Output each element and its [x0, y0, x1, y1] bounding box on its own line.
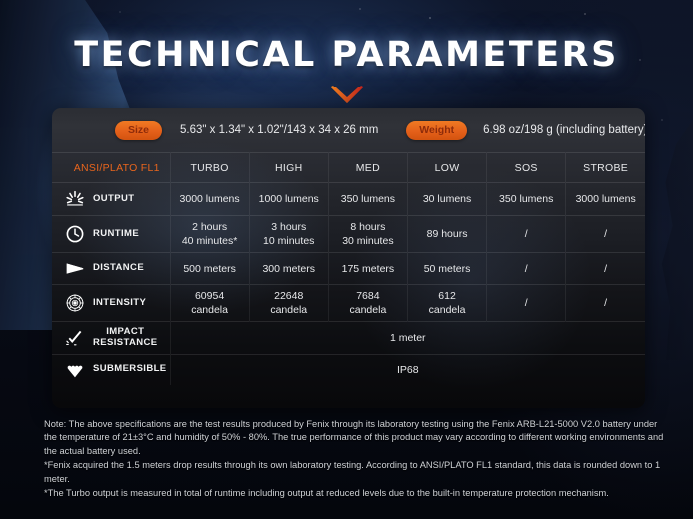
row-label-text: SUBMERSIBLE [93, 364, 167, 375]
cell-runtime-turbo: 2 hours40 minutes* [170, 216, 249, 253]
cell-runtime-high: 3 hours10 minutes [249, 216, 328, 253]
cell-runtime-sos: / [487, 216, 566, 253]
cell-distance-high: 300 meters [249, 253, 328, 285]
cell-output-turbo: 3000 lumens [170, 183, 249, 216]
row-label-output: OUTPUT [52, 183, 170, 216]
footnotes: Note: The above specifications are the t… [44, 418, 664, 502]
column-header-high: HIGH [249, 153, 328, 183]
size-value: 5.63" x 1.34" x 1.02"/143 x 34 x 26 mm [180, 124, 378, 136]
table-row: RUNTIME 2 hours40 minutes* 3 hours10 min… [52, 216, 645, 253]
size-badge: Size [115, 121, 162, 140]
row-label-runtime: RUNTIME [52, 216, 170, 253]
cell-distance-strobe: / [566, 253, 645, 285]
cell-runtime-low: 89 hours [407, 216, 486, 253]
row-label-text: IMPACTRESISTANCE [93, 327, 158, 349]
header: TECHNICAL PARAMETERS [0, 35, 693, 110]
cell-output-strobe: 3000 lumens [566, 183, 645, 216]
column-header-turbo: TURBO [170, 153, 249, 183]
cell-runtime-strobe: / [566, 216, 645, 253]
cell-output-med: 350 lumens [328, 183, 407, 216]
cell-submersible-value: IP68 [170, 355, 645, 385]
page-root: TECHNICAL PARAMETERS Size 5.63" x 1.34" … [0, 0, 693, 519]
row-label-distance: DISTANCE [52, 253, 170, 285]
cell-intensity-low: 612candela [407, 285, 486, 322]
table-row: SUBMERSIBLE IP68 [52, 355, 645, 385]
cell-runtime-med: 8 hours30 minutes [328, 216, 407, 253]
page-title: TECHNICAL PARAMETERS [0, 35, 693, 75]
row-label-text: OUTPUT [93, 194, 134, 205]
weight-value: 6.98 oz/198 g (including battery) [483, 124, 645, 136]
sunburst-icon [64, 188, 86, 210]
clock-icon [64, 223, 86, 245]
row-label-intensity: INTENSITY [52, 285, 170, 322]
cell-intensity-strobe: / [566, 285, 645, 322]
impact-drop-icon [64, 327, 86, 349]
cell-distance-sos: / [487, 253, 566, 285]
table-row: OUTPUT 3000 lumens 1000 lumens 350 lumen… [52, 183, 645, 216]
column-header-low: LOW [407, 153, 486, 183]
weight-badge: Weight [406, 121, 467, 140]
table-row: DISTANCE 500 meters 300 meters 175 meter… [52, 253, 645, 285]
cell-distance-turbo: 500 meters [170, 253, 249, 285]
cell-distance-med: 175 meters [328, 253, 407, 285]
size-weight-row: Size 5.63" x 1.34" x 1.02"/143 x 34 x 26… [52, 108, 645, 152]
beam-distance-icon [64, 258, 86, 280]
cell-intensity-high: 22648candela [249, 285, 328, 322]
table-row: INTENSITY 60954candela 22648candela 7684… [52, 285, 645, 322]
target-intensity-icon [64, 292, 86, 314]
column-header-strobe: STROBE [566, 153, 645, 183]
table-row: IMPACTRESISTANCE 1 meter [52, 322, 645, 355]
water-drop-icon [64, 359, 86, 381]
row-label-submersible: SUBMERSIBLE [52, 355, 170, 385]
cell-intensity-sos: / [487, 285, 566, 322]
cell-intensity-turbo: 60954candela [170, 285, 249, 322]
column-header-med: MED [328, 153, 407, 183]
footnote-line-3: *The Turbo output is measured in total o… [44, 487, 664, 500]
cell-output-sos: 350 lumens [487, 183, 566, 216]
footnote-line-1: Note: The above specifications are the t… [44, 418, 664, 458]
cell-intensity-med: 7684candela [328, 285, 407, 322]
table-header-row: ANSI/PLATO FL1 TURBO HIGH MED LOW SOS ST… [52, 153, 645, 183]
column-header-ansi: ANSI/PLATO FL1 [52, 153, 170, 183]
column-header-sos: SOS [487, 153, 566, 183]
cell-distance-low: 50 meters [407, 253, 486, 285]
row-label-text: RUNTIME [93, 229, 139, 240]
row-label-impact-resistance: IMPACTRESISTANCE [52, 322, 170, 355]
chevron-down-icon [329, 85, 365, 105]
cell-output-high: 1000 lumens [249, 183, 328, 216]
cell-output-low: 30 lumens [407, 183, 486, 216]
cell-impact-resistance-value: 1 meter [170, 322, 645, 355]
row-label-text: DISTANCE [93, 263, 144, 274]
footnote-line-2: *Fenix acquired the 1.5 meters drop resu… [44, 459, 664, 486]
spec-panel: Size 5.63" x 1.34" x 1.02"/143 x 34 x 26… [52, 108, 645, 408]
row-label-text: INTENSITY [93, 298, 146, 309]
specification-table: ANSI/PLATO FL1 TURBO HIGH MED LOW SOS ST… [52, 152, 645, 385]
